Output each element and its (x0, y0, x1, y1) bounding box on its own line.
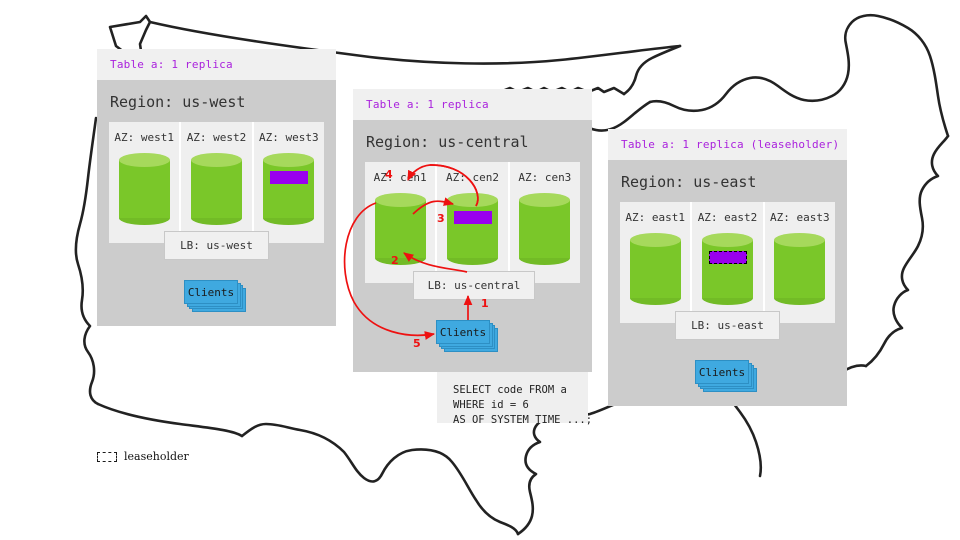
region-panel-us-central: Table a: 1 replica Region: us-central AZ… (353, 89, 592, 372)
az-row-us-east: AZ: east1 AZ: east2 AZ: east3 (620, 202, 835, 323)
cylinder-top (630, 233, 681, 247)
diagram-canvas: Table a: 1 replica Region: us-west AZ: w… (0, 0, 960, 540)
region-panel-us-west: Table a: 1 replica Region: us-west AZ: w… (97, 49, 336, 326)
cylinder-west1 (119, 153, 170, 225)
legend-label: leaseholder (124, 450, 189, 463)
az-cen1[interactable]: AZ: cen1 (365, 162, 437, 283)
region-title-us-central: Region: us-central (353, 120, 592, 162)
az-east3[interactable]: AZ: east3 (765, 202, 835, 323)
cylinder-top (263, 153, 314, 167)
cylinder-top (191, 153, 242, 167)
lb-us-west[interactable]: LB: us-west (164, 231, 269, 260)
step-number-4: 4 (385, 168, 393, 181)
cylinder-body (447, 200, 498, 258)
az-east1[interactable]: AZ: east1 (620, 202, 692, 323)
lb-us-east[interactable]: LB: us-east (675, 311, 780, 340)
cylinder-body (119, 160, 170, 218)
clients-label-us-west: Clients (184, 280, 238, 304)
clients-us-central[interactable]: Clients (436, 320, 498, 352)
cylinder-body (519, 200, 570, 258)
az-west2[interactable]: AZ: west2 (181, 122, 253, 243)
az-cen3[interactable]: AZ: cen3 (510, 162, 580, 283)
az-cen2[interactable]: AZ: cen2 (437, 162, 509, 283)
region-header-us-west: Table a: 1 replica (97, 49, 336, 80)
clients-us-west[interactable]: Clients (184, 280, 246, 312)
cylinder-east1 (630, 233, 681, 305)
range-replica-west3 (270, 171, 308, 184)
cylinder-cen3 (519, 193, 570, 265)
step-number-2: 2 (391, 254, 399, 267)
az-label-east1: AZ: east1 (625, 211, 685, 224)
az-east2[interactable]: AZ: east2 (692, 202, 764, 323)
cylinder-top (774, 233, 825, 247)
sql-query-box: SELECT code FROM a WHERE id = 6 AS OF SY… (437, 372, 588, 423)
cylinder-east2 (702, 233, 753, 305)
az-label-west2: AZ: west2 (187, 131, 247, 144)
az-label-cen3: AZ: cen3 (518, 171, 571, 184)
cylinder-east3 (774, 233, 825, 305)
cylinder-body (375, 200, 426, 258)
range-replica-cen2 (454, 211, 492, 224)
cylinder-top (702, 233, 753, 247)
clients-label-us-central: Clients (436, 320, 490, 344)
az-label-cen2: AZ: cen2 (446, 171, 499, 184)
step-number-1: 1 (481, 297, 489, 310)
region-panel-us-east: Table a: 1 replica (leaseholder) Region:… (608, 129, 847, 406)
range-replica-leaseholder-east2 (709, 251, 747, 264)
region-title-us-east: Region: us-east (608, 160, 847, 202)
cylinder-cen1 (375, 193, 426, 265)
az-row-us-west: AZ: west1 AZ: west2 AZ: west3 (109, 122, 324, 243)
az-west1[interactable]: AZ: west1 (109, 122, 181, 243)
az-label-cen1: AZ: cen1 (374, 171, 427, 184)
az-label-east2: AZ: east2 (698, 211, 758, 224)
cylinder-cen2 (447, 193, 498, 265)
cylinder-body (263, 160, 314, 218)
cylinder-body (630, 240, 681, 298)
cylinder-body (702, 240, 753, 298)
region-header-us-central: Table a: 1 replica (353, 89, 592, 120)
cylinder-body (191, 160, 242, 218)
legend: leaseholder (97, 450, 189, 463)
clients-label-us-east: Clients (695, 360, 749, 384)
az-label-east3: AZ: east3 (770, 211, 830, 224)
cylinder-top (375, 193, 426, 207)
leaseholder-swatch-icon (97, 452, 117, 462)
az-west3[interactable]: AZ: west3 (254, 122, 324, 243)
az-label-west1: AZ: west1 (114, 131, 174, 144)
region-header-us-east: Table a: 1 replica (leaseholder) (608, 129, 847, 160)
cylinder-west3 (263, 153, 314, 225)
cylinder-west2 (191, 153, 242, 225)
lb-us-central[interactable]: LB: us-central (413, 271, 535, 300)
az-label-west3: AZ: west3 (259, 131, 319, 144)
cylinder-top (519, 193, 570, 207)
step-number-5: 5 (413, 337, 421, 350)
cylinder-top (447, 193, 498, 207)
cylinder-top (119, 153, 170, 167)
region-title-us-west: Region: us-west (97, 80, 336, 122)
step-number-3: 3 (437, 212, 445, 225)
clients-us-east[interactable]: Clients (695, 360, 757, 392)
cylinder-body (774, 240, 825, 298)
